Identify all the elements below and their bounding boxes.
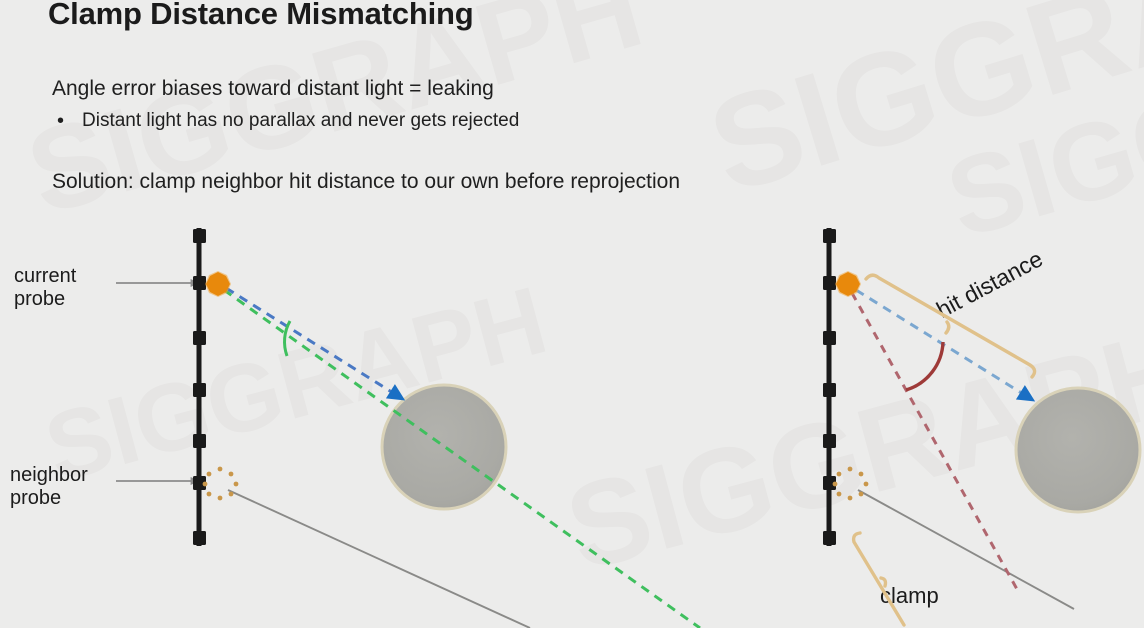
neighbor-probe-marker-left (203, 467, 239, 501)
label-neighbor-probe: neighbor probe (10, 464, 88, 511)
watermark-text: SIGGRAPH (553, 300, 1144, 599)
bracket-hit-distance-tick (946, 322, 949, 333)
body-bullet-item: Distant light has no parallax and never … (82, 110, 519, 132)
left-diagram-group (116, 228, 700, 628)
bullet-marker-icon: • (57, 110, 64, 133)
label-current-probe: current probe (14, 265, 76, 312)
neighbor-probe-marker-right (833, 467, 869, 501)
neighbor-ray-left (228, 490, 530, 628)
ray-neighbor-green-left (224, 290, 700, 628)
occluder-sphere-left (382, 385, 506, 509)
watermark-text: SIGGRAPH (34, 266, 557, 505)
ray-clamped-red-right (852, 293, 1018, 591)
occluder-sphere-right (1016, 388, 1140, 512)
label-clamp: clamp (880, 583, 939, 609)
bracket-clamp (854, 533, 904, 625)
current-probe-marker-right (835, 271, 861, 297)
current-probe-marker-left (205, 271, 231, 297)
label-hit-distance: hit distance (932, 245, 1047, 323)
body-line-solution: Solution: clamp neighbor hit distance to… (52, 170, 680, 194)
body-line-primary: Angle error biases toward distant light … (52, 77, 494, 101)
ray-current-blue-left (226, 288, 398, 396)
probe-wall-ticks-left (193, 229, 206, 545)
probe-wall-ticks-right (823, 229, 836, 545)
slide-title: Clamp Distance Mismatching (48, 0, 473, 32)
angle-arc-left (285, 321, 290, 356)
watermark-text: SIGGRAPH (934, 0, 1144, 263)
slide-canvas: SIGGRAPH SIGGRAPH SIGGRAPH SIGGRAPH SIGG… (0, 0, 1144, 628)
watermark-text: SIGGRAPH (693, 0, 1144, 223)
angle-arc-right (906, 342, 943, 390)
